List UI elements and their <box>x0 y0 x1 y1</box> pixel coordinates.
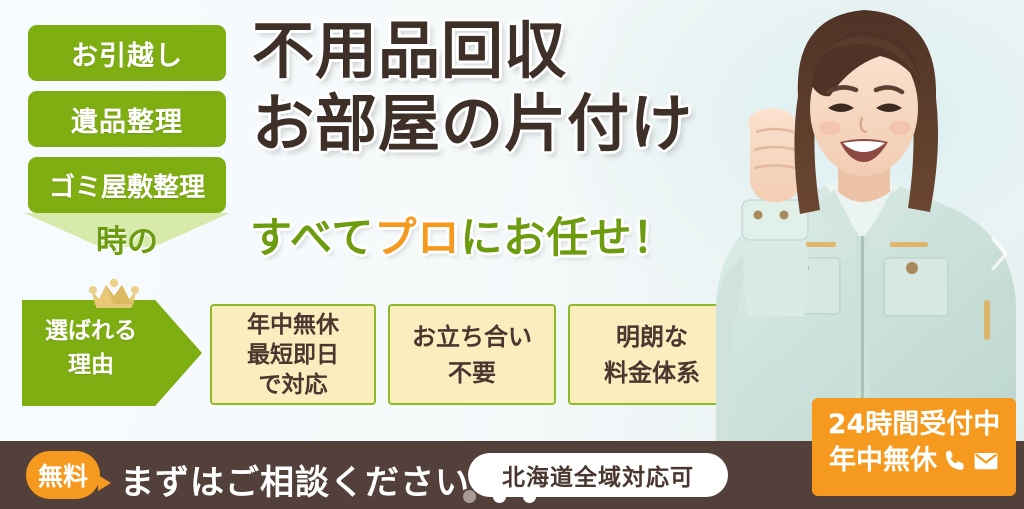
subheadline-part-2-pro: プロ <box>374 213 460 262</box>
headline: 不用品回収 お部屋の片付け <box>252 14 693 160</box>
service-pill-hoarder-house[interactable]: ゴミ屋敷整理 <box>28 157 226 213</box>
crown-icon <box>88 277 140 311</box>
feature-line: 最短即日 <box>247 340 339 370</box>
service-pill-label: 遺品整理 <box>71 100 183 139</box>
reason-badge: 選ばれる 理由 <box>22 300 202 406</box>
subheadline-part-1: すべて <box>250 213 374 262</box>
hero-banner: お引越し 遺品整理 ゴミ屋敷整理 時の 不用品回収 お部屋の片付け すべてプロに… <box>0 0 1024 509</box>
feature-box-no-attendance: お立ち合い 不要 <box>388 304 556 405</box>
reason-badge-text: 選ばれる 理由 <box>22 314 160 382</box>
chevron-right-icon[interactable] <box>988 236 1010 272</box>
feature-line: お立ち合い <box>412 319 532 355</box>
carousel-dot-3[interactable] <box>523 490 536 503</box>
headline-line-1: 不用品回収 <box>252 14 693 87</box>
carousel-dots <box>463 490 536 503</box>
service-pill-label: お引越し <box>71 34 183 73</box>
free-badge-label: 無料 <box>38 457 88 493</box>
feature-line: で対応 <box>259 370 328 400</box>
free-badge: 無料 <box>26 451 100 499</box>
envelope-icon <box>973 448 999 474</box>
service-pill-moving[interactable]: お引越し <box>28 25 226 81</box>
reason-line-1: 選ばれる <box>22 314 160 348</box>
contact-availability-box[interactable]: 24時間受付中 年中無休 <box>812 398 1016 496</box>
feature-line: 明朗な <box>616 319 688 355</box>
subheadline-part-3: にお任せ！ <box>460 213 675 262</box>
feature-line: 不要 <box>448 355 496 391</box>
feature-line: 年中無休 <box>247 310 339 340</box>
connector-label: 時の <box>28 216 226 261</box>
contact-line-2-label: 年中無休 <box>829 443 937 479</box>
contact-line-1: 24時間受付中 <box>812 407 1016 443</box>
contact-line-2: 年中無休 <box>812 443 1016 479</box>
carousel-dot-1[interactable] <box>463 490 476 503</box>
service-pill-estate-cleanup[interactable]: 遺品整理 <box>28 91 226 147</box>
service-area-label: 北海道全域対応可 <box>502 458 694 492</box>
headline-line-2: お部屋の片付け <box>252 87 693 160</box>
feature-line: 料金体系 <box>604 355 700 391</box>
subheadline: すべてプロにお任せ！ <box>250 204 675 265</box>
smiling-staff-woman-photo <box>694 0 1024 448</box>
phone-icon <box>942 448 968 474</box>
cta-text: まずはご相談ください <box>120 455 470 504</box>
carousel-dot-2[interactable] <box>493 490 506 503</box>
feature-box-availability: 年中無休 最短即日 で対応 <box>210 304 376 405</box>
reason-line-2: 理由 <box>22 348 160 382</box>
service-pill-label: ゴミ屋敷整理 <box>49 167 205 204</box>
